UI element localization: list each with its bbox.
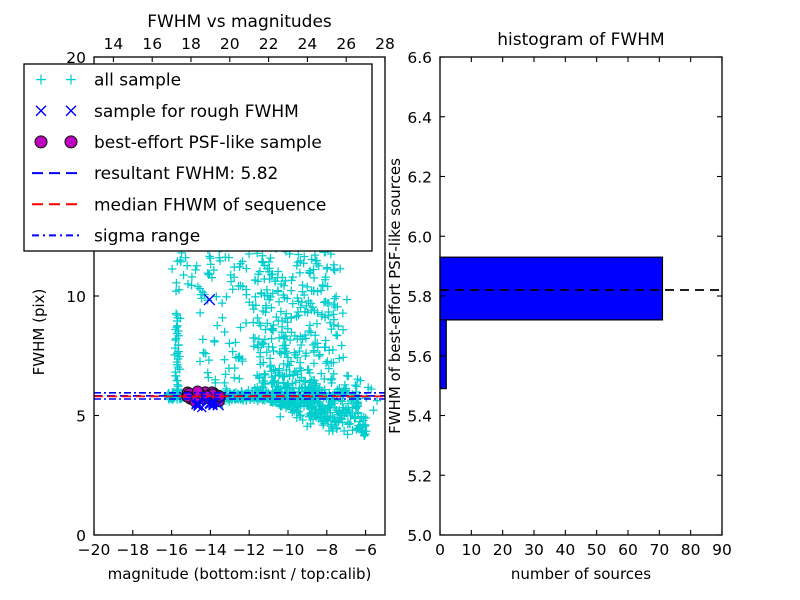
point-plus bbox=[339, 309, 347, 317]
point-plus bbox=[194, 282, 202, 290]
point-plus bbox=[253, 314, 261, 322]
legend-item-label: resultant FWHM: 5.82 bbox=[94, 164, 278, 184]
point-plus bbox=[242, 319, 250, 327]
point-plus bbox=[330, 294, 338, 302]
point-plus bbox=[172, 309, 180, 317]
point-plus bbox=[343, 372, 351, 380]
svg-text:5.2: 5.2 bbox=[407, 467, 432, 485]
point-plus bbox=[310, 274, 318, 282]
svg-text:FWHM vs magnitudes: FWHM vs magnitudes bbox=[147, 12, 332, 32]
point-plus bbox=[295, 347, 303, 355]
point-plus bbox=[330, 301, 338, 309]
point-plus bbox=[323, 265, 331, 273]
svg-text:magnitude (bottom:isnt / top:c: magnitude (bottom:isnt / top:calib) bbox=[108, 565, 372, 583]
svg-text:14: 14 bbox=[104, 35, 124, 53]
svg-text:5.8: 5.8 bbox=[407, 288, 432, 306]
figure-canvas: −20−18−16−14−12−10−8−6141618202224262805… bbox=[0, 0, 800, 600]
svg-text:90: 90 bbox=[712, 541, 732, 559]
point-plus bbox=[310, 359, 318, 367]
point-plus bbox=[231, 338, 239, 346]
point-plus bbox=[213, 321, 221, 329]
point-plus bbox=[343, 295, 351, 303]
svg-text:FWHM (pix): FWHM (pix) bbox=[30, 289, 48, 376]
svg-text:histogram of FWHM: histogram of FWHM bbox=[497, 30, 664, 50]
point-plus bbox=[220, 328, 228, 336]
point-plus bbox=[187, 281, 195, 289]
svg-text:20: 20 bbox=[220, 35, 240, 53]
point-plus bbox=[298, 281, 306, 289]
point-plus bbox=[225, 339, 233, 347]
point-plus bbox=[272, 313, 280, 321]
svg-text:20: 20 bbox=[493, 541, 513, 559]
point-plus bbox=[337, 341, 345, 349]
point-plus bbox=[179, 271, 187, 279]
svg-text:24: 24 bbox=[298, 35, 318, 53]
point-plus bbox=[305, 327, 313, 335]
svg-text:FWHM of best-effort PSF-like s: FWHM of best-effort PSF-like sources bbox=[386, 158, 404, 434]
point-plus bbox=[266, 254, 274, 262]
svg-text:26: 26 bbox=[336, 35, 356, 53]
point-plus bbox=[276, 413, 284, 421]
svg-text:5.6: 5.6 bbox=[407, 348, 432, 366]
point-plus bbox=[339, 353, 347, 361]
point-plus bbox=[230, 374, 238, 382]
point-plus bbox=[287, 286, 295, 294]
svg-text:10: 10 bbox=[461, 541, 481, 559]
svg-text:−8: −8 bbox=[315, 541, 338, 559]
point-plus bbox=[183, 261, 191, 269]
point-plus bbox=[250, 305, 258, 313]
point-plus bbox=[335, 354, 343, 362]
point-plus bbox=[275, 298, 283, 306]
svg-text:−12: −12 bbox=[233, 541, 266, 559]
svg-text:80: 80 bbox=[681, 541, 701, 559]
point-plus bbox=[323, 357, 331, 365]
point-plus bbox=[188, 273, 196, 281]
point-plus bbox=[210, 338, 218, 346]
point-plus bbox=[205, 252, 213, 260]
legend-item-label: all sample bbox=[94, 71, 181, 91]
point-plus bbox=[373, 396, 381, 404]
point-plus bbox=[184, 280, 192, 288]
svg-text:50: 50 bbox=[587, 541, 607, 559]
legend-marker-circle bbox=[65, 136, 77, 148]
legend-item-label: best-effort PSF-like sample bbox=[94, 133, 322, 153]
point-plus bbox=[332, 331, 340, 339]
svg-text:5.0: 5.0 bbox=[407, 527, 432, 545]
point-plus bbox=[269, 347, 277, 355]
svg-text:5: 5 bbox=[76, 408, 86, 426]
point-plus bbox=[330, 266, 338, 274]
svg-text:0: 0 bbox=[435, 541, 445, 559]
point-plus bbox=[328, 375, 336, 383]
point-plus bbox=[344, 420, 352, 428]
point-plus bbox=[339, 325, 347, 333]
point-plus bbox=[309, 287, 317, 295]
svg-text:10: 10 bbox=[66, 288, 86, 306]
svg-text:6.0: 6.0 bbox=[407, 228, 432, 246]
legend-item-label: sigma range bbox=[94, 226, 200, 246]
svg-text:30: 30 bbox=[524, 541, 544, 559]
svg-text:6.4: 6.4 bbox=[407, 109, 432, 127]
point-plus bbox=[303, 283, 311, 291]
point-plus bbox=[193, 262, 201, 270]
svg-text:−10: −10 bbox=[272, 541, 305, 559]
point-plus bbox=[222, 293, 230, 301]
point-plus bbox=[353, 382, 361, 390]
point-plus bbox=[242, 264, 250, 272]
point-plus bbox=[199, 335, 207, 343]
point-plus bbox=[218, 314, 226, 322]
histogram-bar bbox=[440, 257, 662, 320]
point-plus bbox=[204, 368, 212, 376]
svg-text:22: 22 bbox=[259, 35, 279, 53]
point-plus bbox=[277, 307, 285, 315]
point-plus bbox=[333, 331, 341, 339]
point-plus bbox=[218, 299, 226, 307]
histogram-panel: 01020304050607080905.05.25.45.65.86.06.2… bbox=[386, 30, 732, 583]
point-plus bbox=[267, 304, 275, 312]
point-plus bbox=[315, 352, 323, 360]
svg-text:−6: −6 bbox=[354, 541, 377, 559]
svg-text:number of sources: number of sources bbox=[511, 565, 651, 583]
svg-text:6.6: 6.6 bbox=[407, 49, 432, 67]
point-plus bbox=[196, 357, 204, 365]
point-plus bbox=[261, 325, 269, 333]
point-plus bbox=[235, 375, 243, 383]
point-plus bbox=[306, 321, 314, 329]
point-plus bbox=[168, 265, 176, 273]
matplotlib-figure: −20−18−16−14−12−10−8−6141618202224262805… bbox=[0, 0, 800, 600]
point-plus bbox=[336, 265, 344, 273]
point-plus bbox=[204, 373, 212, 381]
svg-text:40: 40 bbox=[555, 541, 575, 559]
point-plus bbox=[250, 342, 258, 350]
point-plus bbox=[263, 319, 271, 327]
svg-text:70: 70 bbox=[649, 541, 669, 559]
point-plus bbox=[362, 394, 370, 402]
point-plus bbox=[206, 254, 214, 262]
point-plus bbox=[220, 355, 228, 363]
legend-item-label: sample for rough FWHM bbox=[94, 102, 299, 122]
histogram-bar bbox=[440, 320, 446, 389]
svg-text:−18: −18 bbox=[116, 541, 149, 559]
point-plus bbox=[313, 319, 321, 327]
point-plus bbox=[313, 339, 321, 347]
point-plus bbox=[172, 372, 180, 380]
legend: all samplesample for rough FWHMbest-effo… bbox=[24, 64, 372, 251]
point-plus bbox=[236, 323, 244, 331]
point-plus bbox=[369, 406, 377, 414]
point-plus bbox=[191, 266, 199, 274]
point-plus bbox=[220, 379, 228, 387]
svg-text:−14: −14 bbox=[194, 541, 227, 559]
svg-text:−16: −16 bbox=[155, 541, 188, 559]
legend-item-label: median FHWM of sequence bbox=[94, 195, 326, 215]
svg-text:28: 28 bbox=[375, 35, 395, 53]
svg-text:6.2: 6.2 bbox=[407, 169, 432, 187]
svg-text:60: 60 bbox=[618, 541, 638, 559]
point-plus bbox=[267, 335, 275, 343]
svg-text:16: 16 bbox=[142, 35, 162, 53]
point-plus bbox=[297, 341, 305, 349]
legend-marker-circle bbox=[35, 136, 47, 148]
point-plus bbox=[196, 309, 204, 317]
point-plus bbox=[332, 292, 340, 300]
svg-text:0: 0 bbox=[76, 527, 86, 545]
legend-box bbox=[24, 64, 372, 251]
svg-text:5.4: 5.4 bbox=[407, 408, 432, 426]
point-plus bbox=[212, 292, 220, 300]
svg-text:18: 18 bbox=[181, 35, 201, 53]
point-plus bbox=[278, 323, 286, 331]
